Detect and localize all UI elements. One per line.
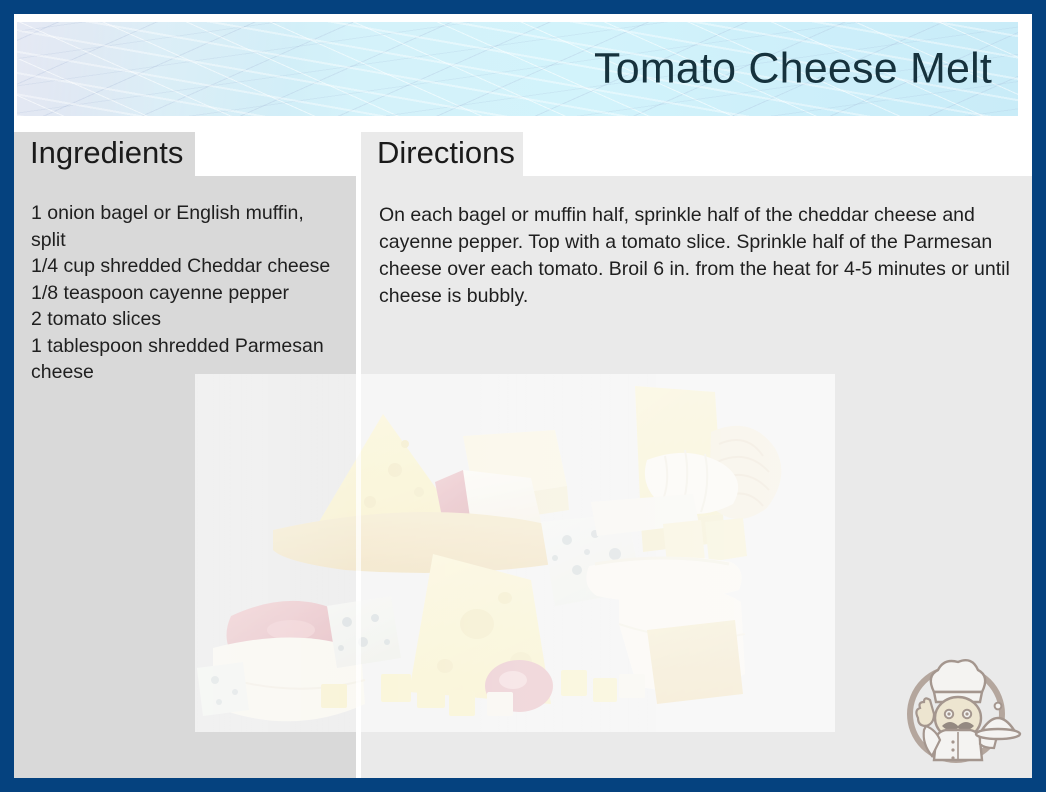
chef-mascot-logo <box>896 648 1024 770</box>
panel-divider <box>356 132 361 782</box>
list-item: 2 tomato slices <box>31 306 338 333</box>
ingredients-panel: 1 onion bagel or English muffin, split 1… <box>14 132 356 782</box>
directions-heading: Directions <box>377 135 515 171</box>
list-item: 1/4 cup shredded Cheddar cheese <box>31 253 338 280</box>
ingredients-list: 1 onion bagel or English muffin, split 1… <box>14 176 356 386</box>
list-item: 1 onion bagel or English muffin, split <box>31 200 338 253</box>
recipe-title: Tomato Cheese Melt <box>594 45 992 94</box>
list-item: 1 tablespoon shredded Parmesan cheese <box>31 333 338 386</box>
ingredients-heading: Ingredients <box>30 135 183 171</box>
ingredients-panel-body: 1 onion bagel or English muffin, split 1… <box>14 176 356 782</box>
directions-text: On each bagel or muffin half, sprinkle h… <box>361 176 1032 310</box>
list-item: 1/8 teaspoon cayenne pepper <box>31 280 338 307</box>
recipe-card: Tomato Cheese Melt 1 onion bagel or Engl… <box>0 0 1046 792</box>
title-banner: Tomato Cheese Melt <box>17 22 1018 116</box>
